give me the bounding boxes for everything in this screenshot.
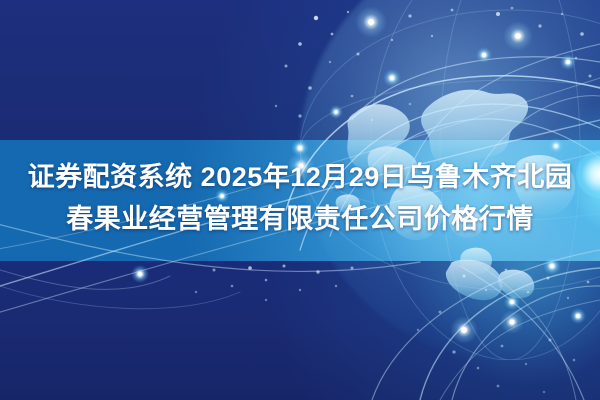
banner-image: 证券配资系统 2025年12月29日乌鲁木齐北园 春果业经营管理有限责任公司价格… (0, 0, 600, 400)
headline-line-1: 证券配资系统 2025年12月29日乌鲁木齐北园 (0, 156, 600, 198)
headline-line-2: 春果业经营管理有限责任公司价格行情 (0, 198, 600, 240)
banner-headline: 证券配资系统 2025年12月29日乌鲁木齐北园 春果业经营管理有限责任公司价格… (0, 156, 600, 240)
